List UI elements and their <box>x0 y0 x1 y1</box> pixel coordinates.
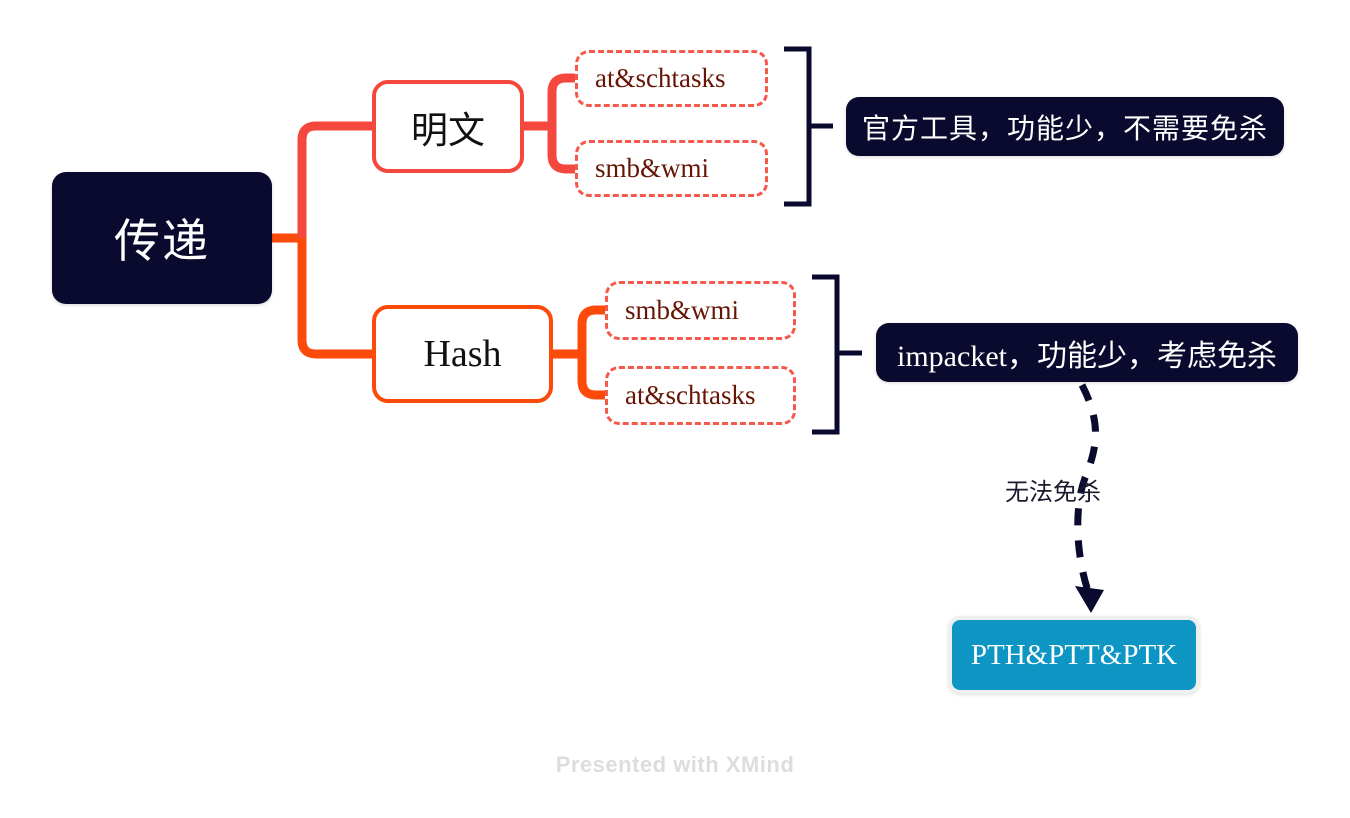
branch-node-hash[interactable]: Hash <box>372 305 553 403</box>
target-node-pth-ptt-ptk[interactable]: PTH&PTT&PTK <box>948 616 1200 694</box>
connector-root-to-hash <box>302 238 372 354</box>
leaf-node-plain-smb-wmi[interactable]: smb&wmi <box>575 140 768 197</box>
connector-hash-to-leaf1 <box>582 310 607 354</box>
summary-bracket-hash <box>812 277 837 432</box>
leaf-node-hash-smb-wmi[interactable]: smb&wmi <box>605 281 796 340</box>
leaf-node-plain-at-schtasks[interactable]: at&schtasks <box>575 50 768 107</box>
connector-plain-to-leaf1 <box>552 78 577 126</box>
summary-bracket-plain <box>784 49 809 204</box>
mindmap-canvas: 传递 明文 Hash at&schtasks smb&wmi smb&wmi a… <box>0 0 1350 818</box>
connector-plain-to-leaf2 <box>552 126 577 169</box>
branch-node-mingwen[interactable]: 明文 <box>372 80 524 173</box>
relationship-arrow-head <box>1075 586 1104 613</box>
watermark-text: Presented with XMind <box>0 752 1350 778</box>
connector-hash-to-leaf2 <box>582 354 607 395</box>
summary-node-plain[interactable]: 官方工具，功能少，不需要免杀 <box>846 97 1284 156</box>
summary-node-hash[interactable]: impacket，功能少，考虑免杀 <box>876 323 1298 382</box>
connector-root-to-plain <box>302 126 372 238</box>
root-node-chuandi[interactable]: 传递 <box>52 172 272 304</box>
leaf-node-hash-at-schtasks[interactable]: at&schtasks <box>605 366 796 425</box>
relationship-label: 无法免杀 <box>1005 472 1101 507</box>
